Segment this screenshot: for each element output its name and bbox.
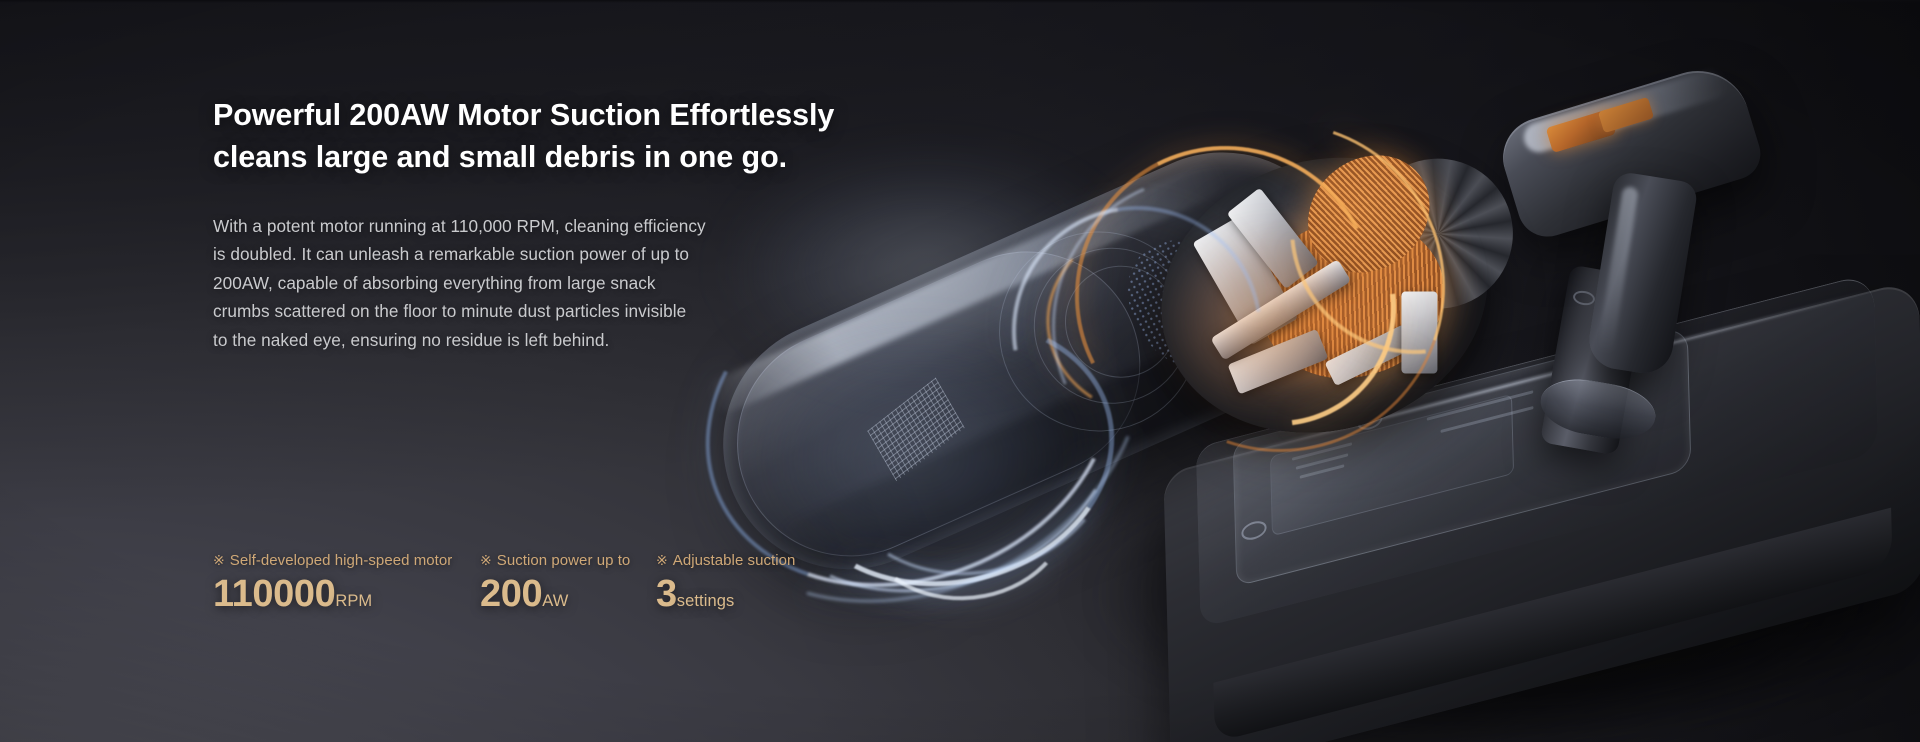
stat-value: 3 settings	[656, 572, 856, 616]
stat-block-suction-settings: ※ Adjustable suction 3 settings	[656, 552, 856, 616]
stat-unit: RPM	[335, 591, 372, 611]
stat-label: ※ Suction power up to	[480, 552, 656, 569]
stat-block-motor-speed: ※ Self-developed high-speed motor 110000…	[213, 552, 480, 616]
stat-unit: AW	[542, 591, 568, 611]
stat-value: 110000 RPM	[213, 572, 480, 616]
headline: Powerful 200AW Motor Suction Effortlessl…	[213, 94, 834, 178]
stat-label-text: Adjustable suction	[673, 552, 796, 569]
stat-block-suction-power: ※ Suction power up to 200 AW	[480, 552, 656, 616]
stat-label: ※ Self-developed high-speed motor	[213, 552, 480, 569]
stat-number: 200	[480, 572, 542, 616]
stat-label-text: Suction power up to	[497, 552, 631, 569]
stat-label-text: Self-developed high-speed motor	[230, 552, 453, 569]
stat-number: 110000	[213, 572, 335, 616]
stat-number: 3	[656, 572, 677, 616]
reference-mark-icon: ※	[213, 552, 225, 569]
stat-unit: settings	[677, 591, 735, 611]
reference-mark-icon: ※	[656, 552, 668, 569]
stats-row: ※ Self-developed high-speed motor 110000…	[213, 552, 856, 616]
text-content-column: Powerful 200AW Motor Suction Effortlessl…	[213, 0, 1033, 742]
stat-label: ※ Adjustable suction	[656, 552, 856, 569]
reference-mark-icon: ※	[480, 552, 492, 569]
stat-value: 200 AW	[480, 572, 656, 616]
body-paragraph: With a potent motor running at 110,000 R…	[213, 212, 813, 354]
product-feature-banner: Powerful 200AW Motor Suction Effortlessl…	[0, 0, 1920, 742]
